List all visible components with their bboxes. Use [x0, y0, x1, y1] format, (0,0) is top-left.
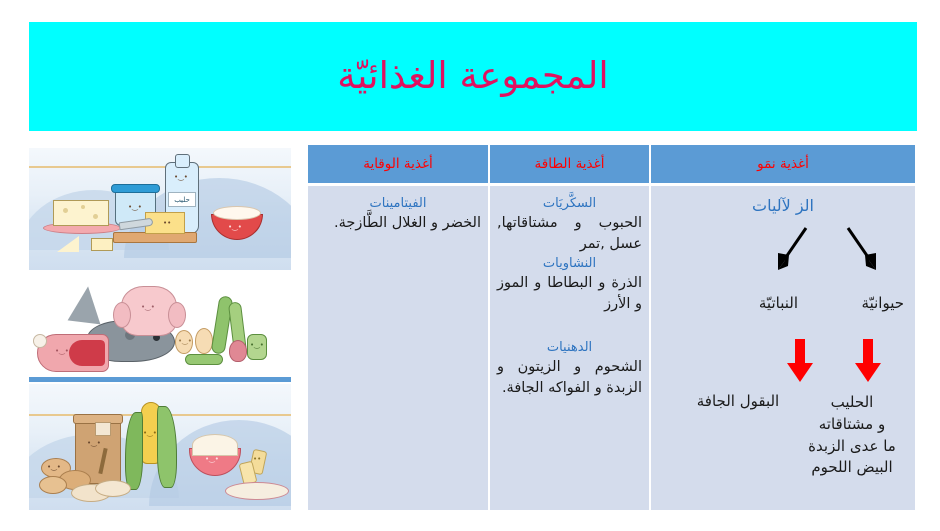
items-fats: الشحوم و الزيتون و الزبدة و الفواكه الجا… [497, 357, 642, 398]
black-arrow-down-right-icon [842, 224, 882, 276]
subheading-sugars: السكَّريَات [497, 196, 642, 211]
column-header-energy-label: أغذية الطاقة [535, 156, 605, 172]
page-title: المجموعة الغذائيّة [337, 56, 608, 97]
cheese-block-shape [53, 200, 109, 226]
title-banner: المجموعة الغذائيّة [29, 22, 917, 131]
flatbread-shape [95, 480, 131, 497]
table-column-growth: أغذية نمَو الز لآليات [651, 145, 915, 510]
rice-mound-shape [192, 434, 238, 456]
smiley-face: •‿• [143, 430, 157, 437]
illustration-column: حليب •‿• •‿• •• •‿• [29, 148, 291, 510]
subheading-starches: النشاويات [497, 256, 642, 271]
table-column-energy: أغذية الطاقة السكَّريَات الحبوب و مشتاقا… [490, 145, 649, 510]
cream-content-shape [213, 206, 261, 220]
decorative-blue-strip [29, 377, 291, 382]
items-starches: الذرة و البطاطا و الموز و الأرز [497, 273, 642, 314]
food-groups-table: أغذية نمَو الز لآليات [308, 145, 915, 510]
yogurt-tub-lid [111, 184, 160, 193]
cheese-hole [93, 214, 98, 219]
chicken-wing-shape [113, 302, 131, 328]
smiley-face: •‿• [141, 304, 155, 311]
chicken-wing-shape [168, 302, 186, 328]
meat-bone-shape [33, 334, 47, 348]
column-header-energy: أغذية الطاقة [490, 145, 649, 183]
protein-foods-illustration: •‿• •‿• •‿• •‿• [29, 272, 291, 382]
column-header-protection-label: أغذية الوقاية [363, 156, 433, 172]
corn-leaf-shape [125, 412, 143, 490]
cheese-hole [63, 208, 68, 213]
column-header-protection: أغذية الوقاية [308, 145, 488, 183]
cheese-hole [81, 205, 85, 209]
smiley-face: •‿• [55, 348, 69, 355]
grain-foods-illustration: •‿• •‿• •‿• •‿• •• [29, 384, 291, 510]
animal-sources-items: الحليب و مشتاقاته ما عدى الزبدة البيض ال… [800, 392, 904, 479]
subheading-fats: الدهنيات [497, 340, 642, 355]
items-vitamins: الخضر و الغلال الطَّازجة. [315, 213, 481, 234]
cheese-wedge-shape [57, 236, 79, 252]
column-body-protection: الفيتامينات الخضر و الغلال الطَّازجة. [308, 186, 488, 510]
smiley-face: •‿• [205, 456, 219, 463]
cheese-slice-shape [91, 238, 113, 251]
subheading-vitamins: الفيتامينات [315, 196, 481, 211]
smiley-face: •• [253, 456, 261, 463]
slide-canvas: { "colors": { "banner_bg": "#00ffff", "t… [0, 0, 940, 531]
column-body-growth: الز لآليات حي [651, 186, 915, 510]
smiley-face: •‿• [250, 342, 264, 349]
column-header-growth: أغذية نمَو [651, 145, 915, 183]
milk-bottle-neck [175, 154, 190, 168]
table-column-protection: أغذية الوقاية الفيتامينات الخضر و الغلال… [308, 145, 488, 510]
smiley-face: •‿• [128, 204, 142, 211]
milk-bottle-label: حليب [168, 192, 196, 207]
meat-inner-shape [69, 340, 105, 366]
smiley-face: •‿• [87, 440, 101, 447]
egg-shape [195, 328, 213, 354]
growth-sources-diagram: الز لآليات حي [658, 194, 908, 504]
items-sugars: الحبوب و مشتاقاتها, عسل ,تمر [497, 213, 642, 254]
red-arrow-down-icon [787, 339, 813, 387]
black-arrow-down-left-icon [772, 224, 812, 276]
radish-shape [229, 340, 247, 362]
branch-label-plant: النباتيّة [759, 294, 798, 312]
diagram-root-label: الز لآليات [658, 196, 908, 215]
pasta-plate-shape [225, 482, 289, 500]
column-header-growth-label: أغذية نمَو [757, 156, 809, 172]
milk-bottle-label-text: حليب [174, 196, 190, 204]
column-body-energy: السكَّريَات الحبوب و مشتاقاتها, عسل ,تمر… [490, 186, 649, 510]
plant-sources-items: البقول الجافة [680, 392, 796, 410]
dairy-foods-illustration: حليب •‿• •‿• •• •‿• [29, 148, 291, 270]
branch-label-animal: حيوانيّة [862, 294, 904, 312]
smiley-face: •‿• [178, 338, 192, 345]
bread-roll-shape [39, 476, 67, 494]
smiley-face: •‿• [47, 464, 61, 471]
smiley-face: •‿• [228, 224, 242, 231]
smiley-face: •‿• [174, 174, 188, 181]
smiley-face: •• [163, 220, 171, 227]
flour-sack-tag [95, 422, 111, 436]
bean-pod-shape [185, 354, 223, 365]
red-arrow-down-icon [855, 339, 881, 387]
decorative-shelf-line [29, 166, 291, 168]
